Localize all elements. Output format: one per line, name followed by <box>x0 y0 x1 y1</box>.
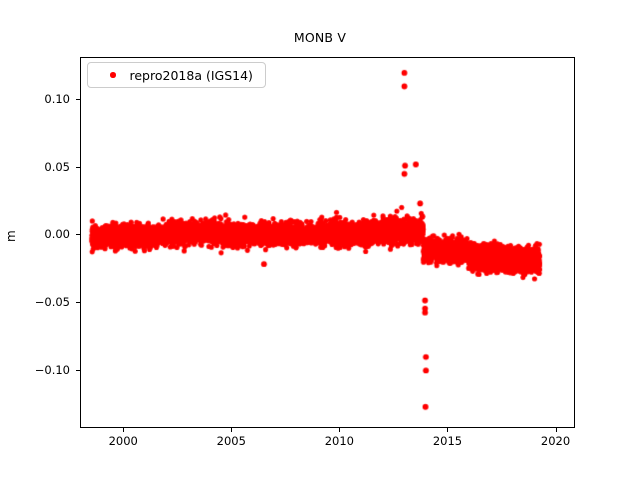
scatter-data-layer <box>81 58 574 427</box>
x-tick-label: 2020 <box>526 434 586 448</box>
x-tick-mark <box>447 428 448 432</box>
x-tick-mark <box>231 428 232 432</box>
legend-marker-icon <box>110 72 116 78</box>
x-tick-label: 2015 <box>417 434 477 448</box>
y-tick-label: −0.05 <box>8 295 70 309</box>
legend-item-label: repro2018a (IGS14) <box>130 68 253 83</box>
legend: repro2018a (IGS14) <box>87 62 266 88</box>
x-tick-mark <box>339 428 340 432</box>
plot-area <box>80 57 575 428</box>
y-tick-label: 0.10 <box>8 92 70 106</box>
page-title: MONB V <box>0 30 640 45</box>
x-tick-mark <box>123 428 124 432</box>
y-tick-label: −0.10 <box>8 363 70 377</box>
x-tick-label: 2000 <box>93 434 153 448</box>
x-tick-label: 2010 <box>309 434 369 448</box>
figure-canvas: MONB V m 0.100.050.00−0.05−0.10 20002005… <box>0 0 640 480</box>
y-tick-label: 0.00 <box>8 227 70 241</box>
x-tick-mark <box>556 428 557 432</box>
x-tick-label: 2005 <box>201 434 261 448</box>
y-tick-label: 0.05 <box>8 160 70 174</box>
